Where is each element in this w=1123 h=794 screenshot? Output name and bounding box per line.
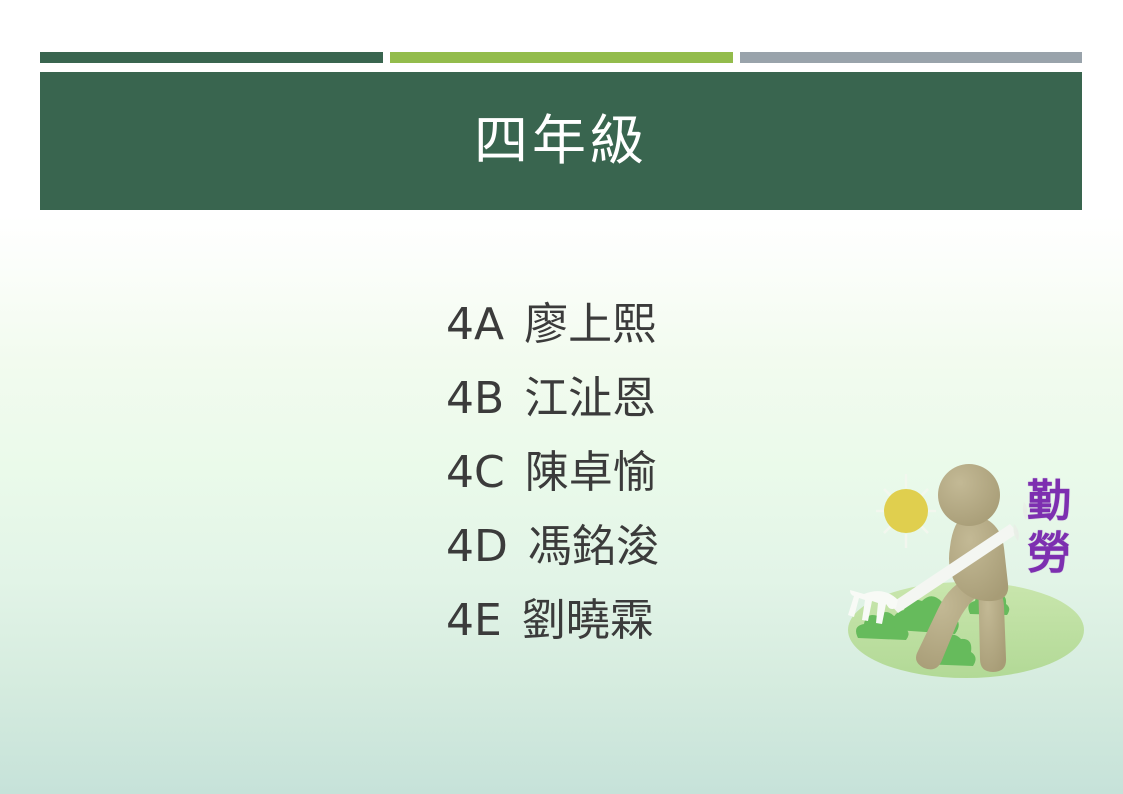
class-code: 4B [446,373,504,424]
pupil-name: 陳卓愉 [525,447,657,498]
pupil-name: 江沚恩 [524,373,656,424]
pupil-name: 廖上熙 [524,299,656,350]
decor-bar-segment-olive-green [390,52,733,63]
pupil-name: 劉曉霖 [522,595,654,646]
list-item: 4A 廖上熙 [446,288,866,362]
diligence-illustration: 勤勞 [838,458,1094,680]
class-code: 4C [446,447,505,498]
farmer-head-icon [938,464,1000,526]
page-title: 四年級 [474,114,648,168]
pupil-name: 馮銘浚 [528,521,660,572]
sun-disc-icon [884,489,928,533]
decor-bar-segment-slate-gray [740,52,1082,63]
decor-bar-segment-dark-green [40,52,383,63]
title-banner: 四年級 [40,72,1082,210]
class-code: 4E [446,595,502,646]
class-code: 4A [446,299,504,350]
class-code: 4D [446,521,508,572]
virtue-label: 勤勞 [1014,476,1084,580]
list-item: 4E 劉曉霖 [446,584,866,658]
roster-list: 4A 廖上熙 4B 江沚恩 4C 陳卓愉 4D 馮銘浚 4E 劉曉霖 [446,288,866,658]
list-item: 4B 江沚恩 [446,362,866,436]
list-item: 4C 陳卓愉 [446,436,866,510]
slide-canvas: 四年級 4A 廖上熙 4B 江沚恩 4C 陳卓愉 4D 馮銘浚 4E 劉曉霖 [0,0,1123,794]
list-item: 4D 馮銘浚 [446,510,866,584]
